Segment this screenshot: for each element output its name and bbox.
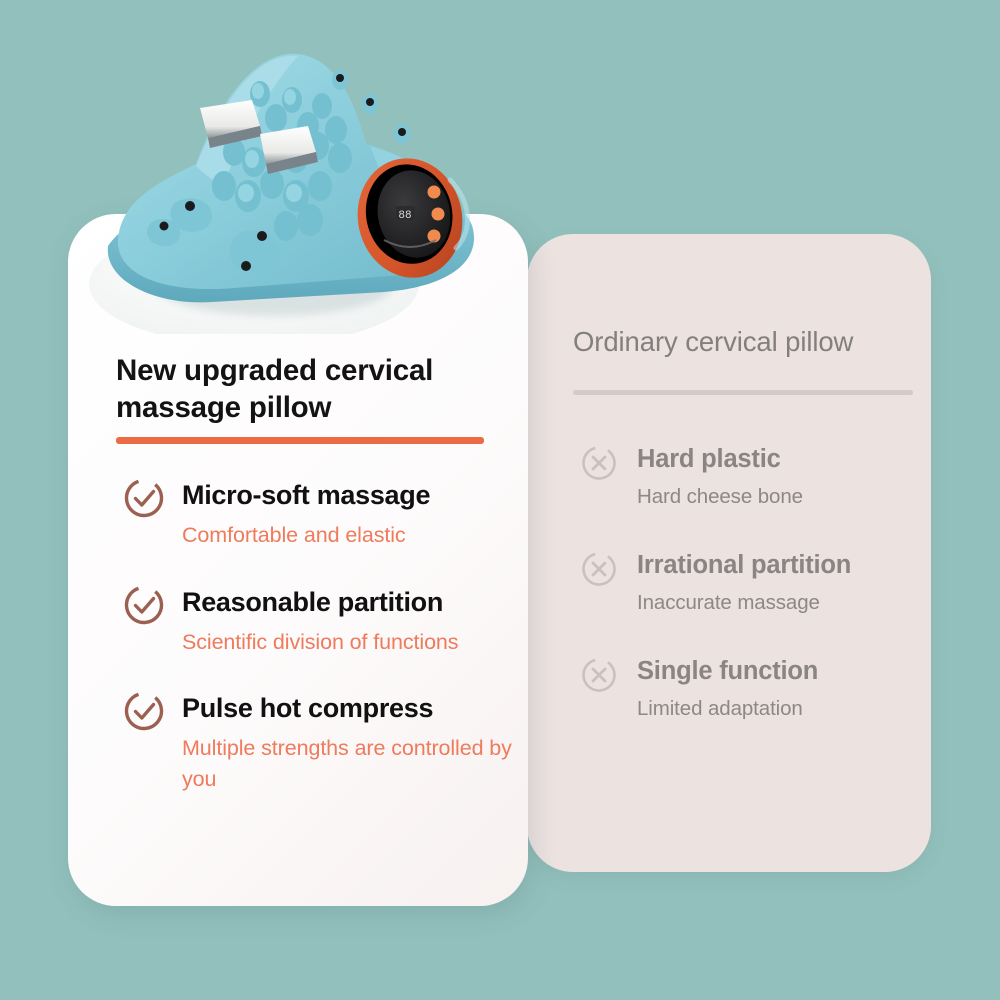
comparison-infographic: 88 New upgraded cervical massage pillow: [0, 0, 1000, 1000]
right-panel-title: Ordinary cervical pillow: [573, 325, 923, 358]
left-panel-accent-rule: [116, 437, 484, 444]
feature-title: Reasonable partition: [182, 587, 526, 618]
drawback-subtitle: Hard cheese bone: [637, 483, 923, 512]
x-circle-icon: [579, 443, 619, 483]
list-item: Irrational partition Inaccurate massage: [573, 551, 923, 618]
drawback-title: Single function: [637, 657, 923, 686]
feature-subtitle: Multiple strengths are controlled by you: [182, 733, 526, 794]
feature-subtitle: Scientific division of functions: [182, 627, 526, 658]
feature-subtitle: Comfortable and elastic: [182, 520, 526, 551]
svg-text:88: 88: [398, 210, 411, 222]
check-circle-icon: [122, 476, 166, 520]
right-panel-rule: [573, 390, 913, 395]
drawback-title: Irrational partition: [637, 551, 923, 580]
check-circle-icon: [122, 689, 166, 733]
x-circle-icon: [579, 549, 619, 589]
list-item: Reasonable partition Scientific division…: [116, 587, 526, 658]
drawback-subtitle: Inaccurate massage: [637, 589, 923, 618]
list-item: Single function Limited adaptation: [573, 657, 923, 724]
drawback-subtitle: Limited adaptation: [637, 695, 923, 724]
left-feature-list: Micro-soft massage Comfortable and elast…: [116, 480, 526, 794]
cervical-massage-pillow-photo: 88: [84, 34, 504, 334]
x-circle-icon: [579, 655, 619, 695]
list-item: Pulse hot compress Multiple strengths ar…: [116, 693, 526, 794]
check-circle-icon: [122, 583, 166, 627]
left-panel-title: New upgraded cervical massage pillow: [116, 352, 526, 426]
list-item: Hard plastic Hard cheese bone: [573, 445, 923, 512]
ordinary-pillow-content: Ordinary cervical pillow Hard plastic Ha…: [573, 325, 923, 724]
feature-title: Micro-soft massage: [182, 480, 526, 511]
right-drawback-list: Hard plastic Hard cheese bone Irrational…: [573, 445, 923, 724]
feature-title: Pulse hot compress: [182, 693, 526, 724]
list-item: Micro-soft massage Comfortable and elast…: [116, 480, 526, 551]
drawback-title: Hard plastic: [637, 445, 923, 474]
product-photo: 88: [84, 34, 504, 334]
upgraded-pillow-content: New upgraded cervical massage pillow Mic…: [116, 352, 526, 795]
